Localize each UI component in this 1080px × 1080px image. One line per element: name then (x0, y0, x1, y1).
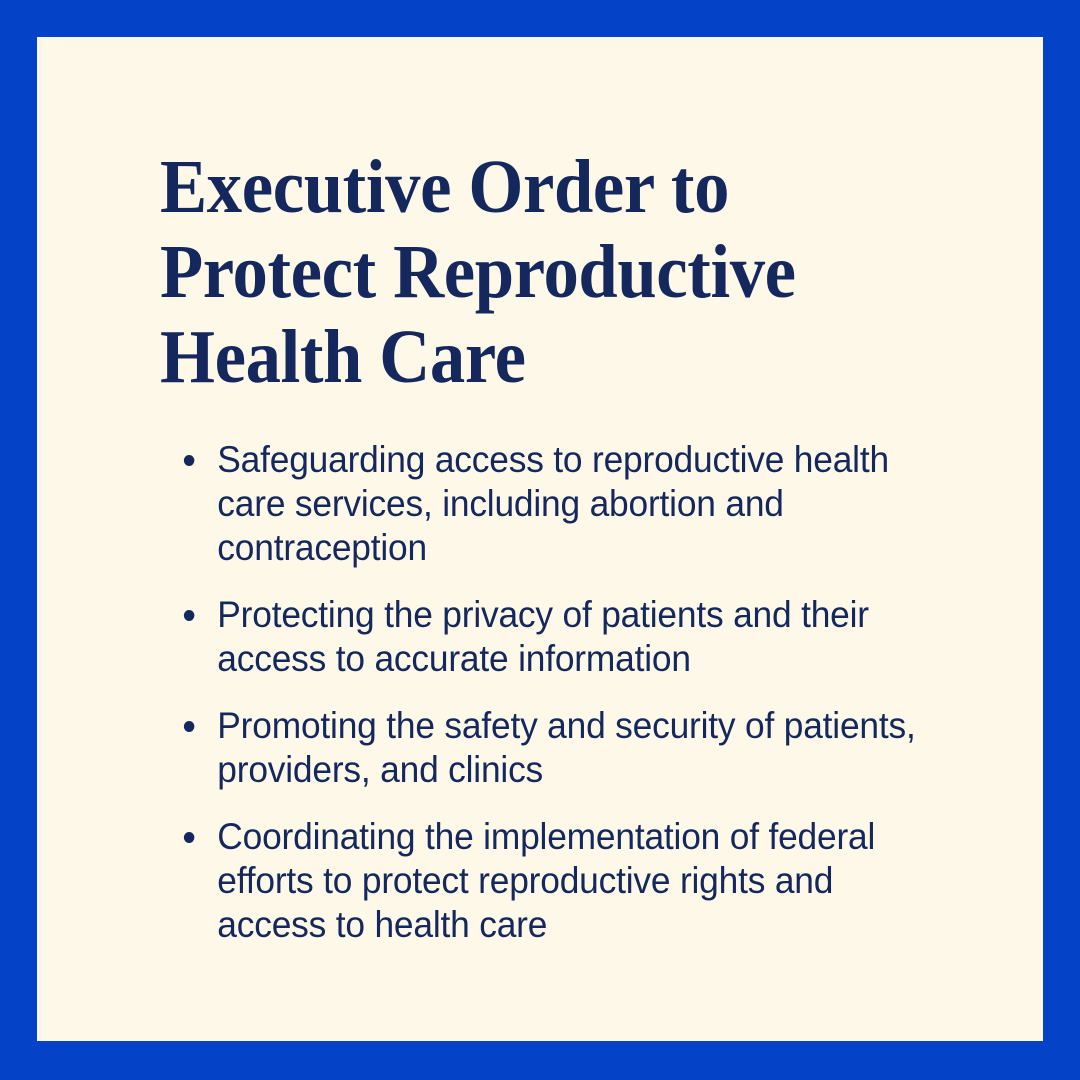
page-title: Executive Order to Protect Reproductive … (160, 145, 904, 400)
bullet-dot-icon (184, 455, 195, 466)
list-item: Protecting the privacy of patients and t… (160, 593, 924, 681)
bullet-dot-icon (184, 721, 195, 732)
list-item-label: Safeguarding access to reproductive heal… (217, 438, 924, 570)
bullet-list: Safeguarding access to reproductive heal… (160, 438, 960, 947)
poster-canvas: Executive Order to Protect Reproductive … (0, 0, 1080, 1080)
list-item-label: Coordinating the implementation of feder… (217, 815, 924, 947)
list-item-label: Promoting the safety and security of pat… (217, 704, 924, 792)
content-column: Executive Order to Protect Reproductive … (160, 145, 960, 947)
list-item: Promoting the safety and security of pat… (160, 704, 924, 792)
list-item: Safeguarding access to reproductive heal… (160, 438, 924, 570)
list-item: Coordinating the implementation of feder… (160, 815, 924, 947)
bullet-dot-icon (184, 610, 195, 621)
list-item-label: Protecting the privacy of patients and t… (217, 593, 924, 681)
content-panel: Executive Order to Protect Reproductive … (37, 37, 1043, 1041)
bullet-dot-icon (184, 832, 195, 843)
